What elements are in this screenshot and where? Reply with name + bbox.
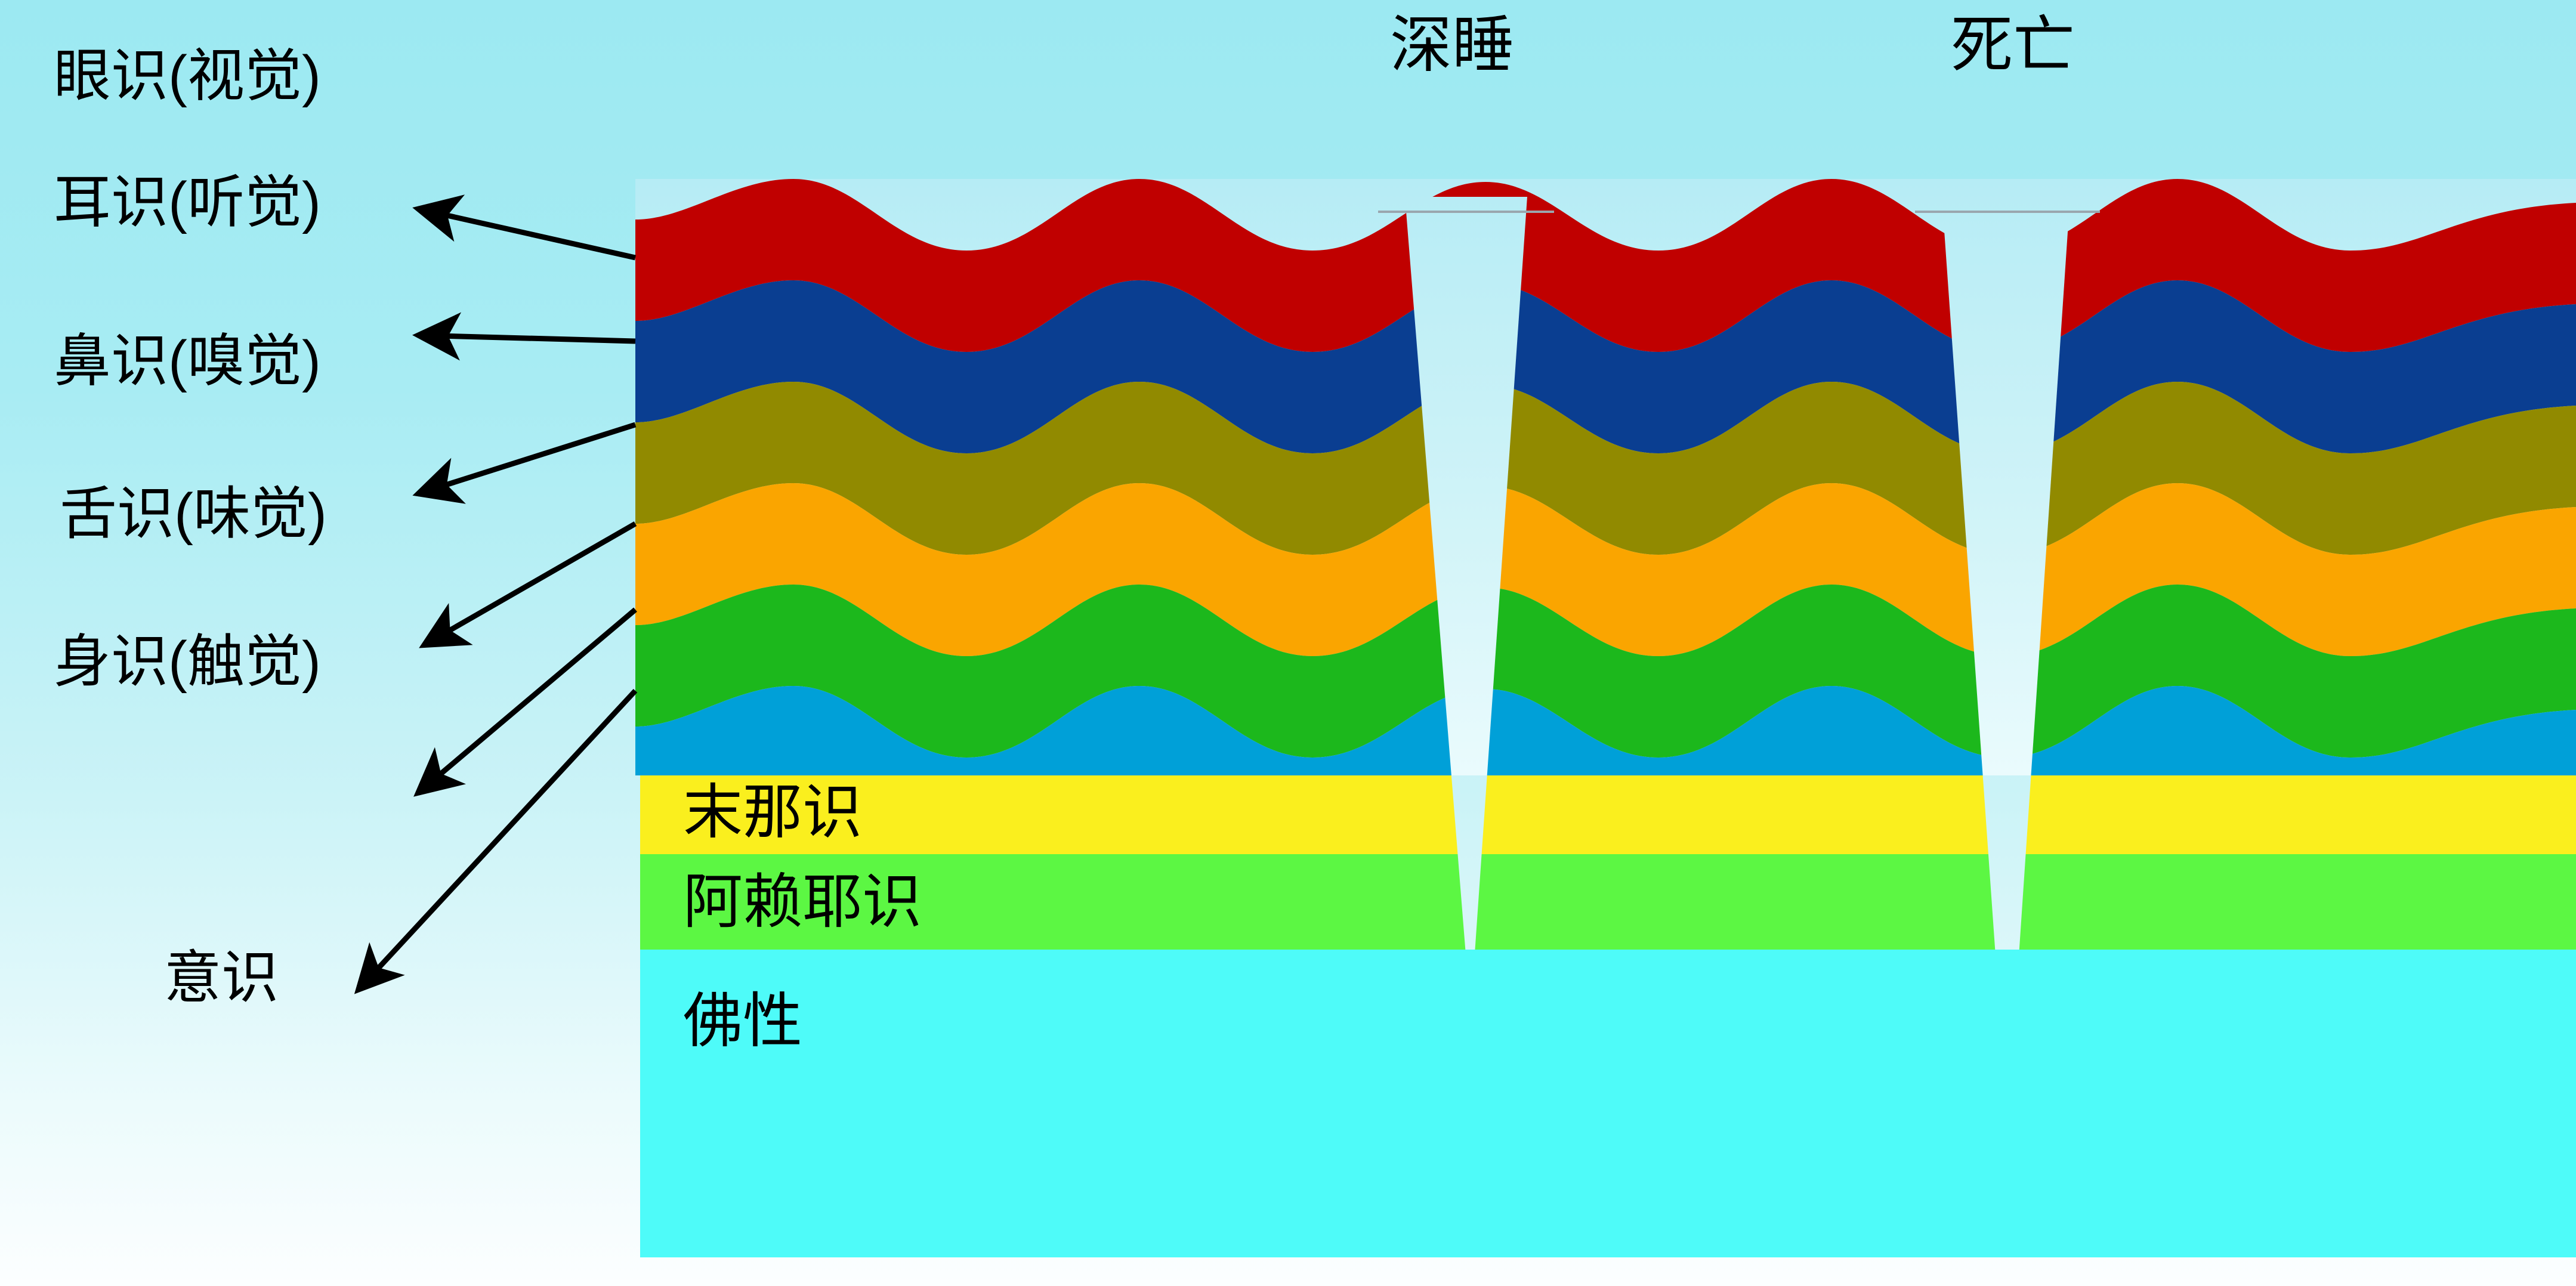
sense-label-tongue: 舌识(味觉) <box>60 484 327 545</box>
band-label-manas: 末那识 <box>683 781 862 844</box>
sense-label-nose: 鼻识(嗅觉) <box>54 332 321 392</box>
sense-wave-stack <box>635 179 2576 859</box>
sense-label-body: 身识(触觉) <box>54 632 321 693</box>
band-manas <box>640 763 2576 854</box>
eight-consciousnesses-diagram <box>0 0 2576 1286</box>
sense-label-mind: 意识 <box>164 948 279 1009</box>
sense-label-eye: 眼识(视觉) <box>54 47 321 107</box>
band-label-buddha-nature: 佛性 <box>683 990 802 1053</box>
diagram-canvas: 深睡 死亡 眼识(视觉) 耳识(听觉) 鼻识(嗅觉) 舌识(味觉) 身识(触觉)… <box>0 0 2576 1286</box>
band-label-alaya: 阿赖耶识 <box>683 871 922 933</box>
band-buddha-nature <box>640 950 2576 1257</box>
consciousness-bands <box>640 763 2576 1257</box>
band-alaya <box>640 854 2576 950</box>
sense-label-ear: 耳识(听觉) <box>54 173 321 233</box>
state-label-deep-sleep: 深睡 <box>1390 13 1514 78</box>
state-label-death: 死亡 <box>1951 13 2075 78</box>
